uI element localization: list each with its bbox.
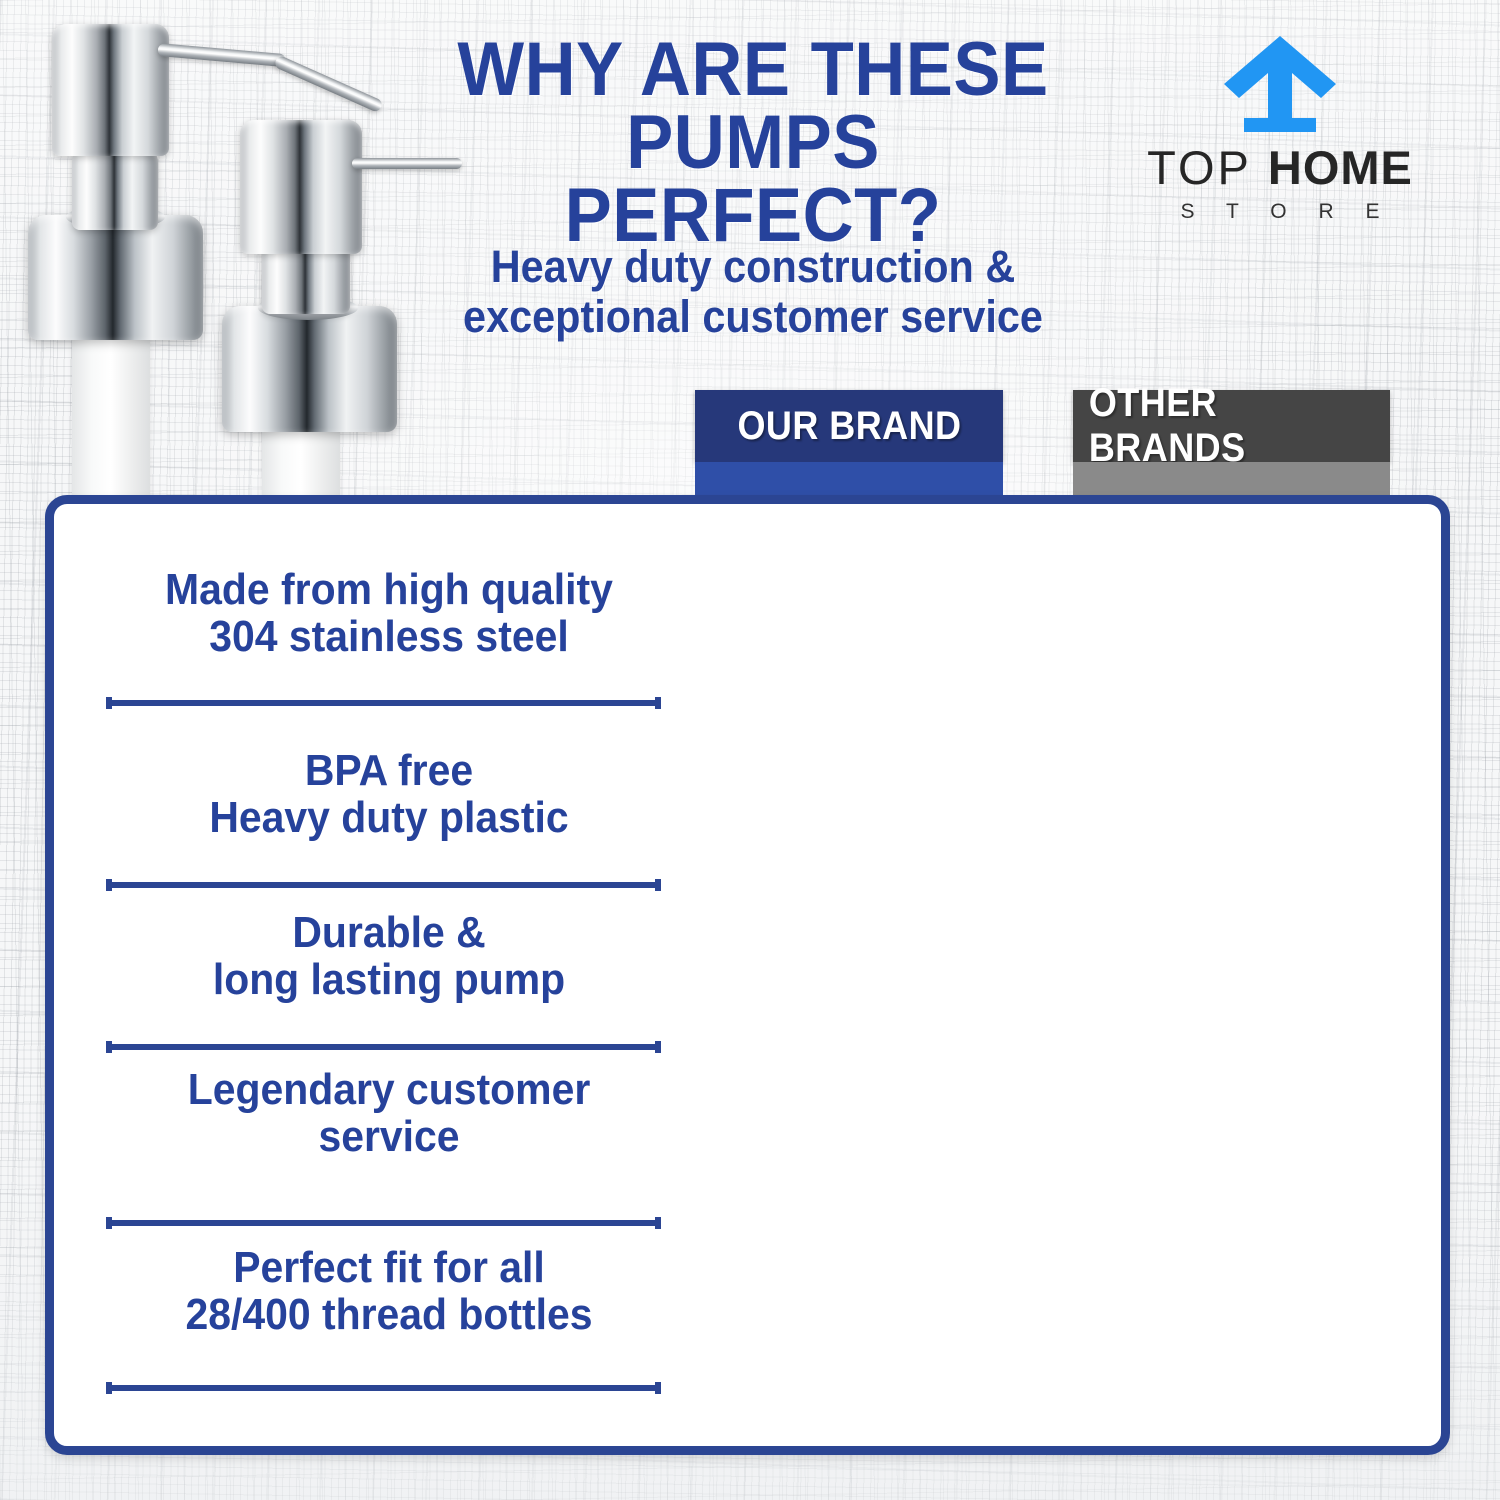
- feature-divider: [106, 1382, 661, 1394]
- page-subtitle-line1: Heavy duty construction &: [491, 241, 1016, 292]
- feature-line2: 304 stainless steel: [209, 612, 568, 661]
- feature-line1: Legendary customer: [188, 1065, 591, 1114]
- pump-left-tube: [72, 330, 150, 520]
- page-title-line2: PUMPS PERFECT?: [432, 107, 1074, 253]
- divider-bar: [112, 700, 655, 706]
- feature-line2: long lasting pump: [213, 955, 565, 1004]
- feature-line1: Made from high quality: [165, 565, 613, 614]
- divider-cap-right: [655, 697, 661, 709]
- house-arrow-logo-icon: [1220, 32, 1340, 134]
- feature-line2: service: [318, 1112, 459, 1161]
- divider-cap-right: [655, 1041, 661, 1053]
- column-header-other-brands-label: OTHER BRANDS: [1089, 381, 1374, 471]
- divider-cap-right: [655, 1217, 661, 1229]
- logo-word-top: TOP: [1147, 141, 1252, 194]
- pump-left-head: [52, 24, 169, 156]
- feature-divider: [106, 1041, 661, 1053]
- pump-left-spout: [157, 43, 286, 67]
- feature-list-card: Made from high quality 304 stainless ste…: [45, 495, 1450, 1455]
- divider-bar: [112, 1220, 655, 1226]
- logo-word-home: HOME: [1268, 141, 1413, 194]
- page-subtitle: Heavy duty construction & exceptional cu…: [436, 242, 1071, 341]
- feature-divider: [106, 879, 661, 891]
- feature-divider: [106, 1217, 661, 1229]
- feature-line1: BPA free: [305, 746, 473, 795]
- logo-word-store: S T O R E: [1100, 200, 1460, 224]
- divider-bar: [112, 1385, 655, 1391]
- divider-cap-right: [655, 879, 661, 891]
- feature-item: Perfect fit for all 28/400 thread bottle…: [129, 1244, 650, 1338]
- divider-cap-right: [655, 1382, 661, 1394]
- divider-bar: [112, 882, 655, 888]
- pump-left-collar: [28, 215, 203, 340]
- feature-line2: Heavy duty plastic: [209, 793, 568, 842]
- feature-line2: 28/400 thread bottles: [185, 1290, 592, 1339]
- pump-left-body: [72, 148, 158, 230]
- feature-item: Durable & long lasting pump: [129, 909, 650, 1003]
- brand-logo: TOPHOME S T O R E: [1100, 32, 1460, 224]
- feature-item: BPA free Heavy duty plastic: [129, 747, 650, 841]
- feature-divider: [106, 697, 661, 709]
- divider-bar: [112, 1044, 655, 1050]
- page-title: WHY ARE THESE PUMPS PERFECT?: [432, 34, 1074, 253]
- column-header-our-brand-label: OUR BRAND: [737, 404, 961, 449]
- feature-item: Legendary customer service: [129, 1066, 650, 1160]
- column-header-our-brand: OUR BRAND: [695, 390, 1003, 462]
- column-header-other-brands: OTHER BRANDS: [1073, 390, 1390, 462]
- feature-item: Made from high quality 304 stainless ste…: [129, 566, 650, 660]
- feature-line1: Durable &: [292, 908, 485, 957]
- feature-line1: Perfect fit for all: [233, 1243, 545, 1292]
- pump-right-collar: [222, 306, 397, 432]
- pump-right-head: [240, 120, 362, 254]
- pump-left-spout-tip: [273, 55, 383, 114]
- page-subtitle-line2: exceptional customer service: [463, 291, 1043, 342]
- logo-wordmark: TOPHOME: [1100, 144, 1460, 191]
- product-image-soap-dispenser-pumps: [0, 0, 430, 510]
